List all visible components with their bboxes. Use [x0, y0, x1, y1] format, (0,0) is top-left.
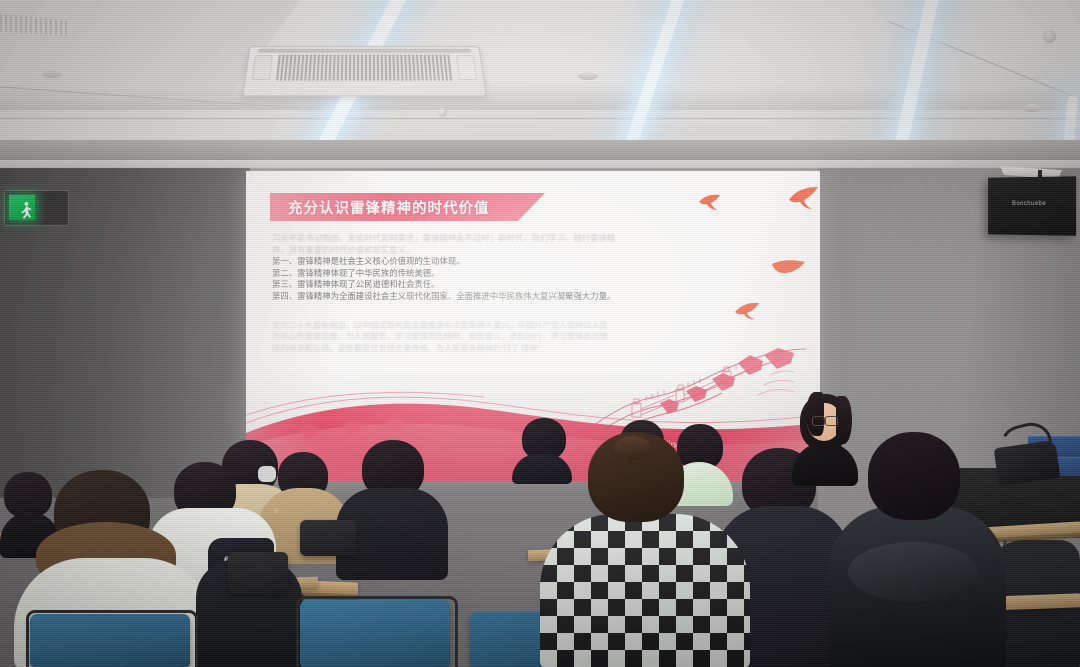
chair-frame — [296, 596, 458, 667]
sprinkler-icon — [438, 108, 447, 117]
chair-back — [228, 552, 288, 594]
ac-side-vent — [456, 55, 477, 80]
wall-speaker: Bonchuebe — [988, 176, 1076, 236]
classroom-photo: EXIT Bonchuebe 充分认识雷锋精神的时代价值 习近平总书记指出，无论… — [0, 0, 1080, 667]
ceiling-seam — [0, 118, 1080, 119]
presenter-glasses-right — [825, 416, 838, 426]
dove-icon — [734, 301, 762, 320]
chair-back — [300, 520, 356, 556]
sprinkler-icon — [1043, 30, 1056, 43]
slide-title-text: 充分认识雷锋精神的时代价值 — [288, 197, 490, 218]
slide-para1-line2: 神，具有重要的时代价值和现实意义。 — [272, 245, 702, 256]
smoke-detector-icon — [42, 70, 62, 78]
slide-bullet-4: 第四、雷锋精神为全面建设社会主义现代化国家、全面推进中华民族伟大复兴凝聚强大力量… — [272, 291, 702, 302]
running-man-icon — [18, 201, 33, 221]
smoke-detector-icon — [578, 72, 598, 80]
air-conditioner-unit — [242, 46, 487, 96]
chair-frame — [26, 610, 198, 667]
student-head — [868, 432, 960, 520]
exit-sign: EXIT — [4, 190, 69, 226]
slide-title-banner: 充分认识雷锋精神的时代价值 — [270, 193, 545, 221]
dove-icon — [771, 256, 807, 278]
slide-para1-line1: 习近平总书记指出，无论时代如何变迁，雷锋精神永不过时；新时代，我们学习、践行雷锋… — [272, 233, 702, 244]
ac-vane — [257, 49, 471, 53]
slide-bullet-2: 第二、雷锋精神体现了中华民族的传统美德。 — [272, 268, 702, 279]
presenter-hair-side — [836, 396, 852, 444]
student-hair-bun — [614, 436, 650, 460]
speaker-brand-label: Bonchuebe — [1012, 201, 1046, 207]
dove-icon — [698, 193, 724, 211]
ac-grille-icon — [276, 54, 453, 80]
slide-body-text: 习近平总书记指出，无论时代如何变迁，雷锋精神永不过时；新时代，我们学习、践行雷锋… — [272, 233, 702, 303]
slide-bullet-1: 第一、雷锋精神是社会主义核心价值观的生动体现。 — [272, 256, 702, 267]
jacket-highlight — [848, 542, 978, 602]
presenter-glasses-left — [812, 416, 825, 426]
wall-cornice — [0, 140, 1080, 162]
presenter-hair-front — [806, 392, 824, 436]
smoke-detector-icon — [1022, 104, 1042, 112]
presenter-glasses-bridge — [823, 419, 826, 420]
sweater-shade — [540, 514, 750, 667]
dove-icon — [787, 186, 820, 210]
exit-sign-glow — [9, 195, 35, 220]
ac-side-vent — [252, 55, 273, 80]
slide-bullet-3: 第三、雷锋精神体现了公民道德和社会责任。 — [272, 279, 702, 290]
